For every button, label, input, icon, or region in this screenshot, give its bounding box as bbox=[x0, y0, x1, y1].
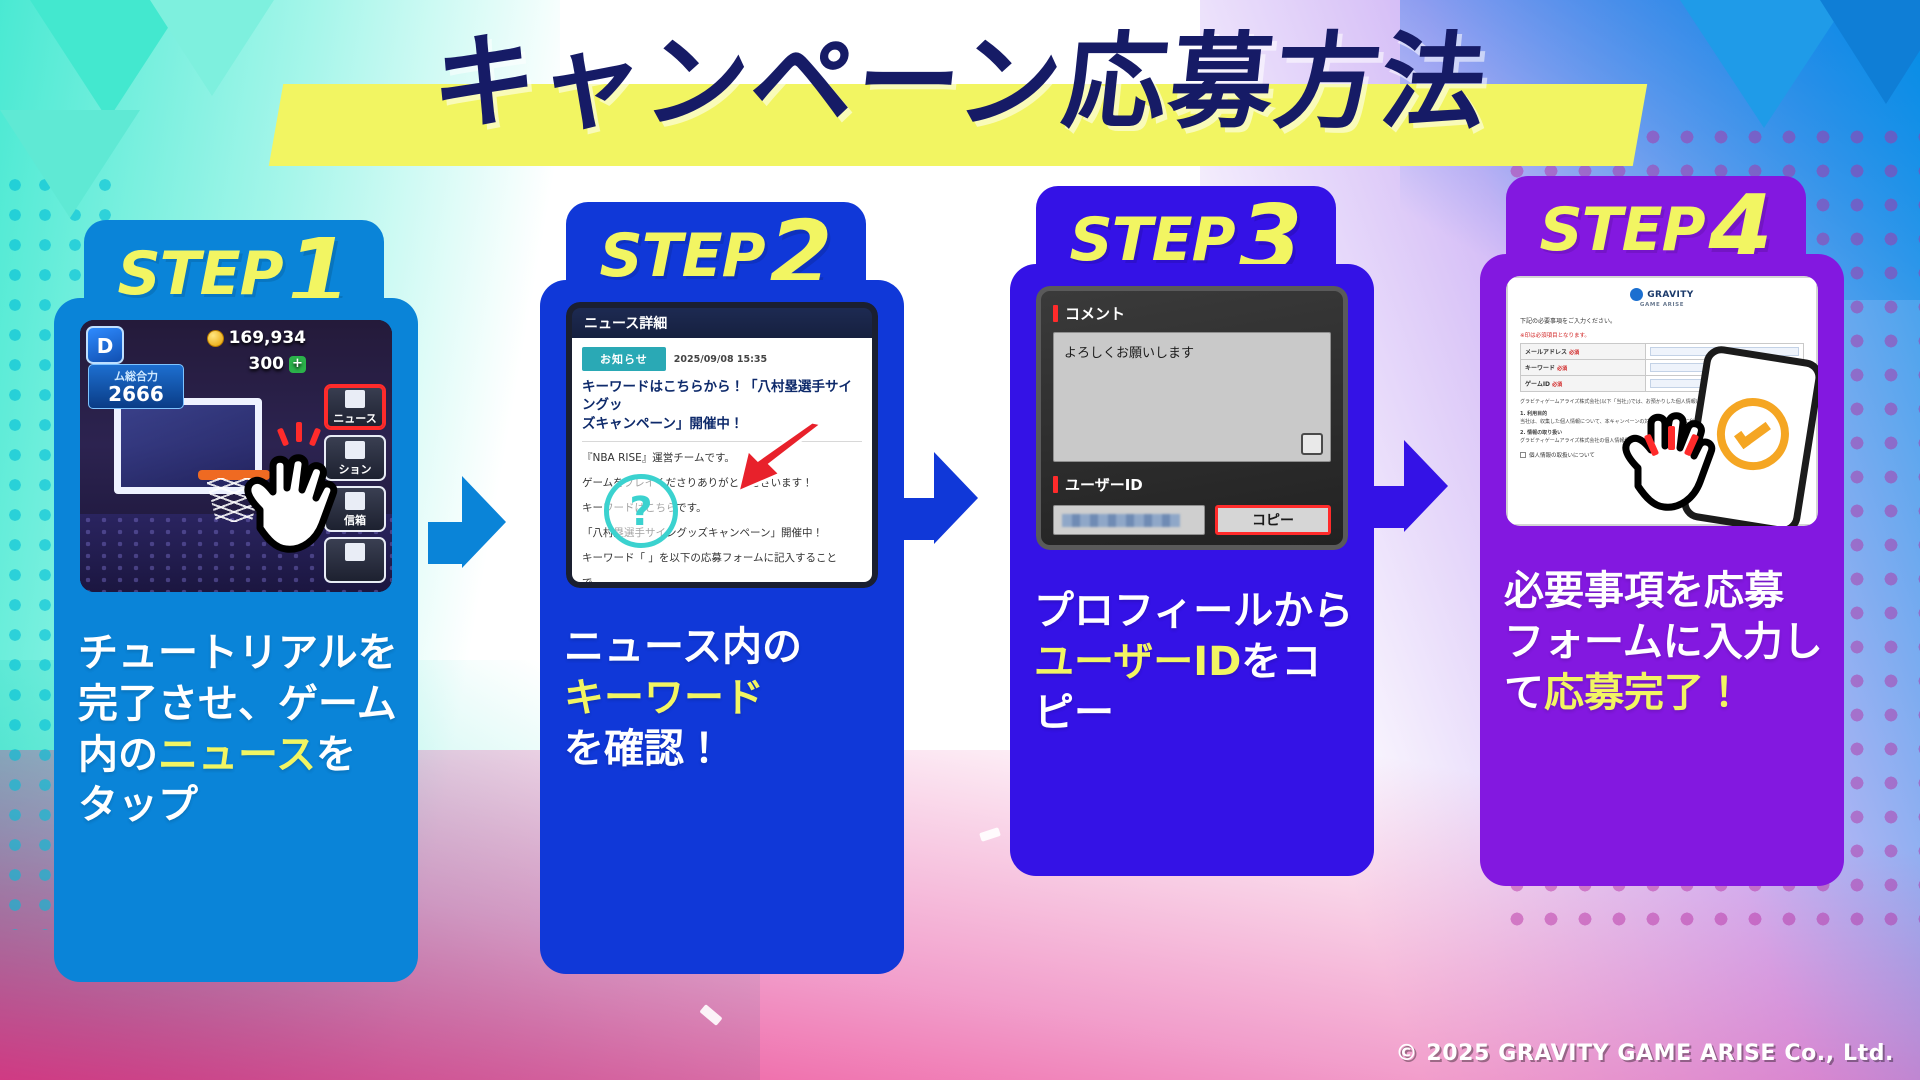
step-tab-3: STEP 3 bbox=[1036, 186, 1336, 274]
userid-input[interactable] bbox=[1053, 505, 1205, 535]
red-arrow-icon bbox=[730, 420, 826, 496]
add-gem-button[interactable]: + bbox=[289, 356, 306, 373]
news-badge: お知らせ bbox=[582, 347, 666, 371]
flow-arrow-1 bbox=[462, 476, 506, 568]
game-screen: D ム総合力 2666 169,934 300 + bbox=[80, 320, 392, 592]
flow-arrow-2 bbox=[934, 452, 978, 544]
userid-field-label: ユーザーID bbox=[1053, 474, 1331, 495]
page-title: キャンペーン応募方法 bbox=[0, 28, 1920, 137]
brand-name: GRAVITY bbox=[1647, 290, 1693, 300]
news-body: お知らせ 2025/09/08 15:35 キーワードはこちらから！「八村塁選手… bbox=[572, 338, 872, 582]
step-label-4: STEP bbox=[1539, 200, 1704, 260]
step3-caption: プロフィールから ユーザーIDをコ ピー bbox=[1034, 586, 1356, 738]
tap-hand-icon bbox=[240, 448, 344, 564]
form-note: 下記の必要事項をご入力ください。 bbox=[1520, 316, 1804, 325]
menu-item-mailbox-label: 信箱 bbox=[344, 512, 366, 528]
step-card-1: D ム総合力 2666 169,934 300 + bbox=[54, 298, 418, 982]
copyright-footer: © 2025 GRAVITY GAME ARISE Co., Ltd. bbox=[1395, 1041, 1894, 1066]
brand-subtitle: GAME ARISE bbox=[1640, 302, 1684, 308]
edit-pencil-icon[interactable] bbox=[1301, 433, 1323, 455]
menu-item-news[interactable]: ニュース bbox=[324, 384, 386, 430]
caption-line: 内のニュースを bbox=[78, 730, 400, 781]
caption-line: プロフィールから bbox=[1034, 586, 1356, 637]
step4-caption: 必要事項を応募 フォームに入力し て応募完了！ bbox=[1504, 566, 1826, 718]
step-label-3: STEP bbox=[1069, 210, 1234, 270]
news-header: ニュース詳細 bbox=[572, 308, 872, 338]
userid-masked-value bbox=[1062, 514, 1180, 527]
label-accent-bar bbox=[1053, 305, 1058, 322]
mission-icon bbox=[345, 441, 365, 459]
mailbox-icon bbox=[345, 492, 365, 510]
form-field-label: キーワード 必須 bbox=[1521, 360, 1646, 376]
step2-caption: ニュース内の キーワード を確認！ bbox=[564, 622, 886, 774]
step-label-1: STEP bbox=[117, 244, 282, 304]
news-paragraph: キーワード「 」を以下の応募フォームに記入すること bbox=[582, 550, 862, 567]
step-tab-4: STEP 4 bbox=[1506, 176, 1806, 264]
flow-arrow-3-stem bbox=[1370, 486, 1404, 528]
form-field-label: ゲームID 必須 bbox=[1521, 376, 1646, 392]
news-icon bbox=[345, 390, 365, 408]
caption-line: ユーザーIDをコ bbox=[1034, 637, 1356, 688]
step-label-2: STEP bbox=[599, 226, 764, 286]
consent-checkbox[interactable] bbox=[1520, 452, 1526, 458]
news-date: 2025/09/08 15:35 bbox=[674, 354, 767, 365]
step-card-2: ニュース詳細 お知らせ 2025/09/08 15:35 キーワードはこちらから… bbox=[540, 280, 904, 974]
step-card-4: GRAVITY GAME ARISE 下記の必要事項をご入力ください。 ※印は必… bbox=[1480, 254, 1844, 886]
caption-line: て応募完了！ bbox=[1504, 668, 1826, 719]
coin-counter: 169,934 bbox=[207, 328, 306, 348]
profile-screen: コメント よろしくお願いします ユーザーID コピー bbox=[1036, 286, 1348, 550]
flow-arrow-1-stem bbox=[428, 522, 462, 564]
caption-line: キーワード bbox=[564, 673, 886, 724]
form-field-label: メールアドレス 必須 bbox=[1521, 344, 1646, 360]
tap-spark bbox=[1668, 426, 1675, 450]
comment-field-label: コメント bbox=[1053, 303, 1331, 324]
tap-spark bbox=[296, 422, 302, 442]
flow-arrow-2-stem bbox=[900, 498, 934, 540]
caption-line: タップ bbox=[78, 780, 400, 831]
caption-line: ピー bbox=[1034, 688, 1356, 739]
caption-line: を確認！ bbox=[564, 724, 886, 775]
tap-spark bbox=[309, 428, 321, 447]
step-card-3: コメント よろしくお願いします ユーザーID コピー bbox=[1010, 264, 1374, 876]
step-tab-2: STEP 2 bbox=[566, 202, 866, 290]
caption-line: 必要事項を応募 bbox=[1504, 566, 1826, 617]
tap-spark bbox=[277, 428, 289, 447]
avatar: D bbox=[86, 326, 124, 364]
form-required-note: ※印は必須項目となります。 bbox=[1520, 331, 1804, 339]
comment-value: よろしくお願いします bbox=[1064, 346, 1194, 361]
poster-canvas: キャンペーン応募方法 STEP 1 D ム総合力 2666 bbox=[0, 0, 1920, 1080]
menu-item-news-label: ニュース bbox=[333, 410, 376, 426]
team-power-badge: ム総合力 2666 bbox=[88, 364, 184, 409]
caption-line: 完了させ、ゲーム bbox=[78, 679, 400, 730]
gem-value: 300 bbox=[249, 354, 285, 374]
flow-arrow-3 bbox=[1404, 440, 1448, 532]
team-power-value: 2666 bbox=[93, 384, 179, 405]
step-tab-1: STEP 1 bbox=[84, 220, 384, 308]
step3-screenshot: コメント よろしくお願いします ユーザーID コピー bbox=[1036, 286, 1348, 550]
news-paragraph: で、 bbox=[582, 575, 862, 582]
coin-value: 169,934 bbox=[229, 328, 306, 348]
consent-label: 個人情報の取扱いについて bbox=[1529, 451, 1595, 459]
step2-screenshot: ニュース詳細 お知らせ 2025/09/08 15:35 キーワードはこちらから… bbox=[566, 302, 878, 588]
tap-hand-icon bbox=[1618, 404, 1722, 524]
step1-caption: チュートリアルを 完了させ、ゲーム 内のニュースを タップ bbox=[78, 628, 400, 831]
brand-top: GRAVITY bbox=[1630, 288, 1693, 301]
step4-screenshot: GRAVITY GAME ARISE 下記の必要事項をご入力ください。 ※印は必… bbox=[1506, 276, 1818, 526]
profile-icon bbox=[345, 543, 365, 561]
userid-row: コピー bbox=[1053, 505, 1331, 535]
brand-mark-icon bbox=[1630, 288, 1643, 301]
gem-counter: 300 + bbox=[249, 354, 307, 374]
coin-icon bbox=[207, 330, 224, 347]
copy-button[interactable]: コピー bbox=[1215, 505, 1331, 535]
brand-logo: GRAVITY GAME ARISE bbox=[1520, 288, 1804, 308]
news-meta-row: お知らせ 2025/09/08 15:35 bbox=[582, 347, 862, 371]
step1-screenshot: D ム総合力 2666 169,934 300 + bbox=[80, 320, 392, 592]
comment-textarea[interactable]: よろしくお願いします bbox=[1053, 332, 1331, 462]
caption-line: チュートリアルを bbox=[78, 628, 400, 679]
caption-line: フォームに入力し bbox=[1504, 617, 1826, 668]
keyword-hint-icon: ? bbox=[604, 474, 678, 548]
news-phone: ニュース詳細 お知らせ 2025/09/08 15:35 キーワードはこちらから… bbox=[566, 302, 878, 588]
caption-line: ニュース内の bbox=[564, 622, 886, 673]
label-accent-bar bbox=[1053, 476, 1058, 493]
steps-container: STEP 1 D ム総合力 2666 169,934 bbox=[0, 236, 1920, 976]
